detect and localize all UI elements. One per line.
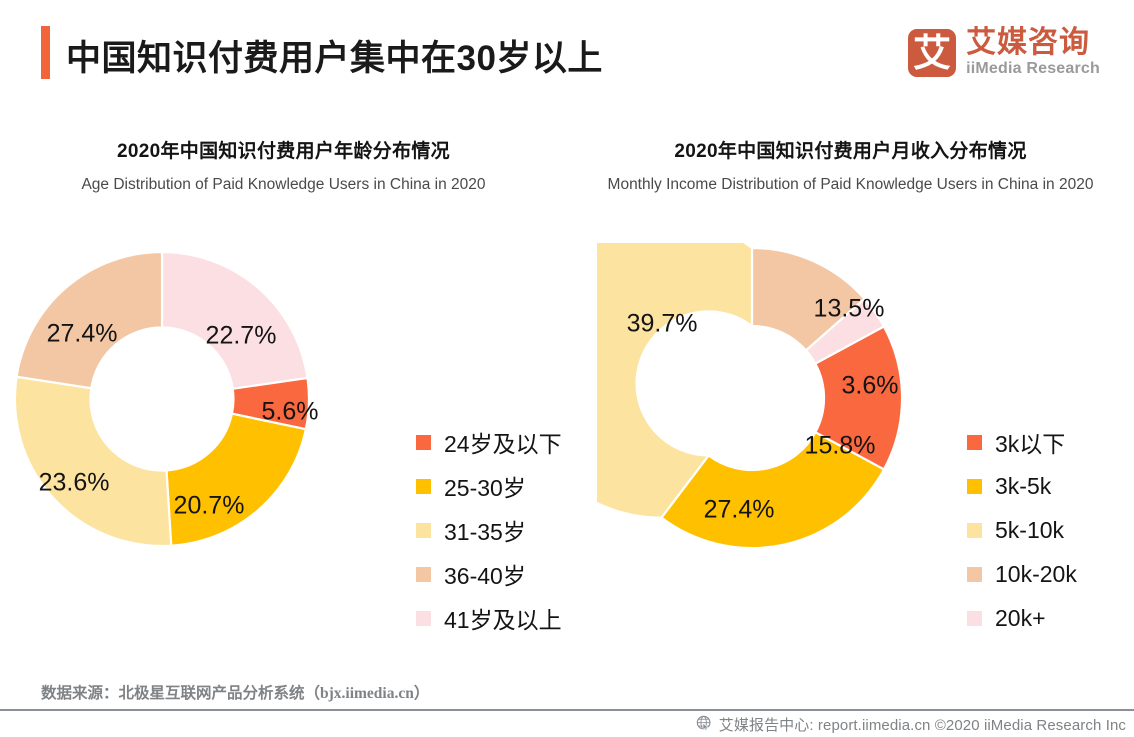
chart-panel-age: 2020年中国知识付费用户年龄分布情况 Age Distribution of … bbox=[0, 136, 567, 676]
legend-label: 3k-5k bbox=[995, 473, 1051, 500]
legend-item[interactable]: 10k-20k bbox=[967, 552, 1077, 596]
legend-item[interactable]: 20k+ bbox=[967, 596, 1077, 640]
legend-item[interactable]: 36-40岁 bbox=[416, 552, 562, 596]
donut-slice-41-and-above[interactable] bbox=[162, 252, 307, 389]
legend-swatch-icon bbox=[967, 479, 982, 494]
slice-label-25-30: 20.7% bbox=[174, 492, 245, 520]
logo-glyph: 艾 bbox=[908, 29, 956, 77]
slide-header: 中国知识付费用户集中在30岁以上 艾 艾媒咨询 iiMedia Research bbox=[0, 0, 1134, 108]
logo-text-block: 艾媒咨询 iiMedia Research bbox=[966, 28, 1100, 77]
chart-title-cn: 2020年中国知识付费用户年龄分布情况 bbox=[0, 136, 567, 163]
legend-label: 25-30岁 bbox=[444, 469, 526, 503]
legend-label: 41岁及以上 bbox=[444, 601, 562, 635]
slide-canvas: 中国知识付费用户集中在30岁以上 艾 艾媒咨询 iiMedia Research… bbox=[0, 0, 1134, 737]
legend-label: 24岁及以下 bbox=[444, 425, 562, 459]
donut-chart-age: 22.7% 5.6% 20.7% 23.6% 27.4% 24岁及以下 25-3… bbox=[0, 238, 567, 638]
logo-mark-icon: 艾 bbox=[908, 29, 956, 77]
legend-label: 5k-10k bbox=[995, 517, 1064, 544]
legend-swatch-icon bbox=[416, 611, 431, 626]
brand-logo: 艾 艾媒咨询 iiMedia Research bbox=[908, 24, 1100, 82]
report-center-text: 艾媒报告中心: report.iimedia.cn ©2020 iiMedia … bbox=[719, 714, 1126, 735]
legend-label: 36-40岁 bbox=[444, 557, 526, 591]
data-source-note: 数据来源：北极星互联网产品分析系统（bjx.iimedia.cn） bbox=[41, 681, 429, 703]
title-accent-bar bbox=[41, 26, 50, 79]
logo-name-cn: 艾媒咨询 bbox=[966, 28, 1100, 59]
legend-swatch-icon bbox=[416, 523, 431, 538]
globe-cursor-icon bbox=[696, 715, 713, 735]
legend-item[interactable]: 3k-5k bbox=[967, 464, 1077, 508]
slice-label-3k-5k: 27.4% bbox=[704, 496, 775, 524]
legend-item[interactable]: 41岁及以上 bbox=[416, 596, 562, 640]
legend-item[interactable]: 5k-10k bbox=[967, 508, 1077, 552]
slice-label-under-3k: 15.8% bbox=[805, 432, 876, 460]
legend-swatch-icon bbox=[416, 435, 431, 450]
slice-label-36-40: 27.4% bbox=[47, 320, 118, 348]
donut-slice-31-35[interactable] bbox=[15, 377, 171, 546]
legend-item[interactable]: 24岁及以下 bbox=[416, 420, 562, 464]
donut-svg-income: 13.5% 3.6% 15.8% 27.4% 39.7% bbox=[597, 243, 977, 603]
logo-name-en: iiMedia Research bbox=[966, 60, 1100, 78]
footer-divider bbox=[0, 709, 1134, 711]
slice-label-31-35: 23.6% bbox=[39, 469, 110, 497]
legend-item[interactable]: 3k以下 bbox=[967, 420, 1077, 464]
slice-label-5k-10k: 39.7% bbox=[627, 310, 698, 338]
slice-label-41-and-above: 22.7% bbox=[206, 322, 277, 350]
legend-swatch-icon bbox=[967, 435, 982, 450]
donut-chart-income: 13.5% 3.6% 15.8% 27.4% 39.7% 3k以下 3k-5k bbox=[567, 238, 1134, 638]
chart-legend-income: 3k以下 3k-5k 5k-10k 10k-20k 20k+ bbox=[967, 420, 1077, 640]
legend-item[interactable]: 25-30岁 bbox=[416, 464, 562, 508]
legend-label: 20k+ bbox=[995, 605, 1046, 632]
legend-label: 31-35岁 bbox=[444, 513, 526, 547]
legend-label: 10k-20k bbox=[995, 561, 1077, 588]
legend-swatch-icon bbox=[416, 479, 431, 494]
donut-slice-25-30[interactable] bbox=[166, 414, 305, 546]
footer-report-center: 艾媒报告中心: report.iimedia.cn ©2020 iiMedia … bbox=[696, 714, 1126, 735]
chart-title-cn: 2020年中国知识付费用户月收入分布情况 bbox=[567, 136, 1134, 163]
chart-panel-income: 2020年中国知识付费用户月收入分布情况 Monthly Income Dist… bbox=[567, 136, 1134, 676]
legend-swatch-icon bbox=[967, 523, 982, 538]
slice-label-10k-20k: 13.5% bbox=[814, 295, 885, 323]
legend-label: 3k以下 bbox=[995, 425, 1065, 459]
legend-item[interactable]: 31-35岁 bbox=[416, 508, 562, 552]
legend-swatch-icon bbox=[967, 567, 982, 582]
slice-label-24-and-under: 5.6% bbox=[262, 398, 319, 426]
donut-svg-age: 22.7% 5.6% 20.7% 23.6% 27.4% bbox=[12, 252, 412, 612]
legend-swatch-icon bbox=[416, 567, 431, 582]
page-title: 中国知识付费用户集中在30岁以上 bbox=[66, 30, 603, 81]
chart-title-en: Monthly Income Distribution of Paid Know… bbox=[567, 176, 1134, 194]
chart-title-en: Age Distribution of Paid Knowledge Users… bbox=[0, 176, 567, 194]
slice-label-20k-plus: 3.6% bbox=[842, 372, 899, 400]
legend-swatch-icon bbox=[967, 611, 982, 626]
chart-legend-age: 24岁及以下 25-30岁 31-35岁 36-40岁 41岁及以上 bbox=[416, 420, 562, 640]
